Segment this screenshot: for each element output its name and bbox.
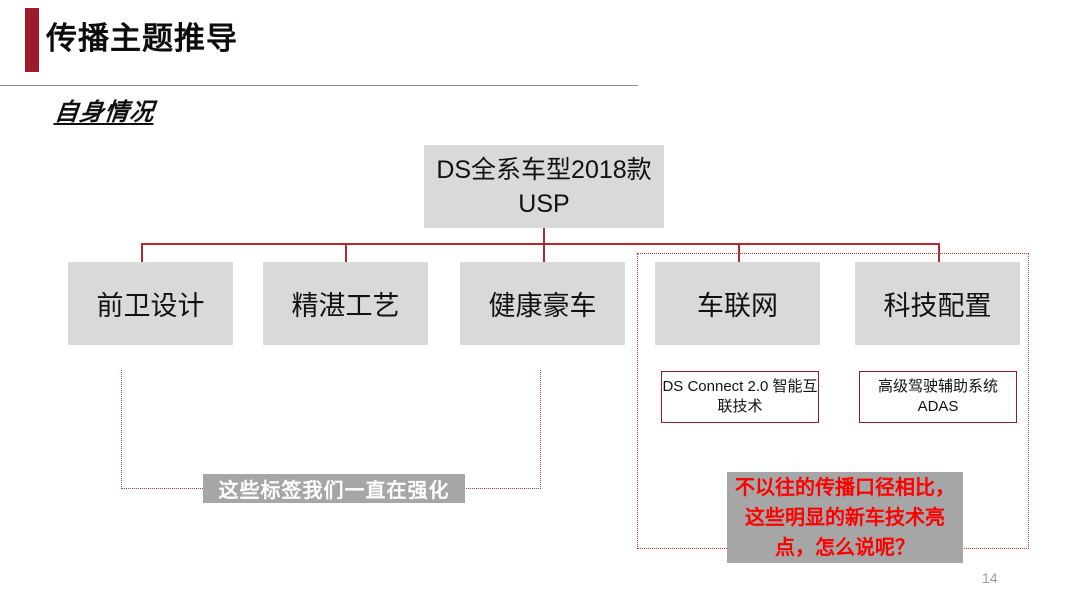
page-title: 传播主题推导 [46,14,238,64]
connector-drop-3 [543,243,545,263]
callout-existing-labels: 这些标签我们一直在强化 [203,474,465,503]
node-sub-adas[interactable]: 高级驾驶辅助系统ADAS [859,371,1017,423]
connector-root-stem [543,228,545,244]
node-branch-healthy-luxury-car[interactable]: 健康豪车 [460,262,625,345]
callout-new-tech-question: 不以往的传播口径相比，这些明显的新车技术亮点，怎么说呢？ [727,472,963,563]
node-sub-ds-connect[interactable]: DS Connect 2.0 智能互联技术 [661,371,819,423]
node-root-usp[interactable]: DS全系车型2018款 USP [424,145,664,228]
node-branch-tech-configuration[interactable]: 科技配置 [855,262,1020,345]
header-divider [0,85,638,86]
connector-drop-4 [738,243,740,263]
slide-canvas: 传播主题推导 自身情况 DS全系车型2018款 USP 前卫设计 精湛工艺 健康… [0,0,1080,608]
title-accent-bar [25,8,39,72]
connector-drop-2 [345,243,347,263]
connector-horizontal-bus [141,243,939,245]
dashed-bracket-existing-group [121,370,541,489]
connector-drop-5 [938,243,940,263]
connector-drop-1 [141,243,143,263]
page-number: 14 [982,570,998,586]
node-branch-connected-car[interactable]: 车联网 [655,262,820,345]
section-subtitle: 自身情况 [53,92,157,127]
node-branch-avant-garde-design[interactable]: 前卫设计 [68,262,233,345]
node-branch-exquisite-craft[interactable]: 精湛工艺 [263,262,428,345]
